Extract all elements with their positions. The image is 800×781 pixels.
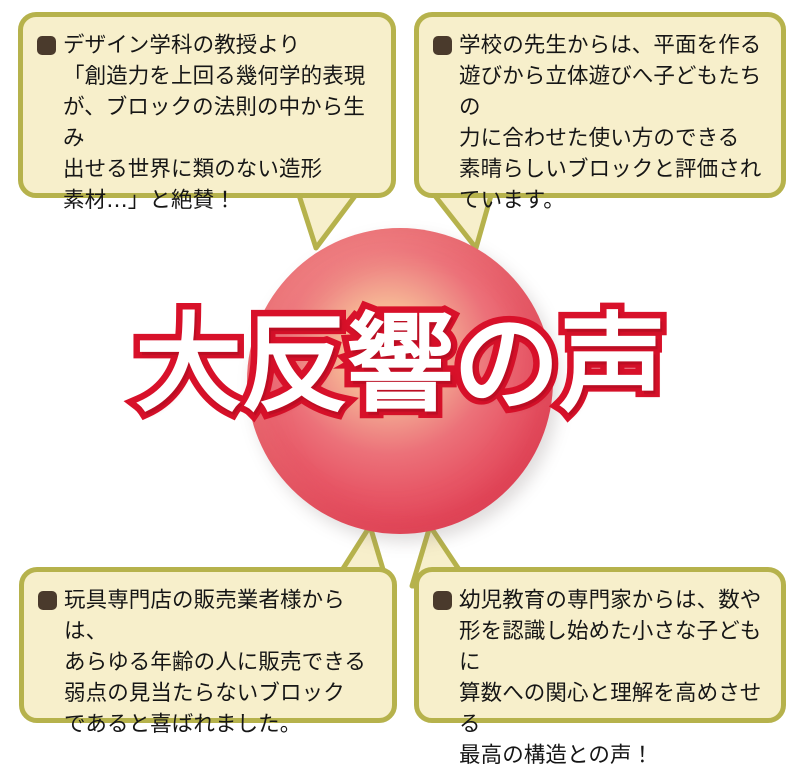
testimonial-text-bottom-left: 玩具専門店の販売業者様からは、 あらゆる年齢の人に販売できる 弱点の見当たらない… xyxy=(64,585,380,740)
square-bullet-icon xyxy=(433,36,452,55)
testimonial-text-bottom-right: 幼児教育の専門家からは、数や 形を認識し始めた小さな子どもに 算数への関心と理解… xyxy=(459,585,769,771)
square-bullet-icon xyxy=(433,591,452,610)
testimonial-bubble-top-left: デザイン学科の教授より 「創造力を上回る幾何学的表現 が、ブロックの法則の中から… xyxy=(18,12,396,198)
testimonial-bubble-bottom-right: 幼児教育の専門家からは、数や 形を認識し始めた小さな子どもに 算数への関心と理解… xyxy=(414,567,786,723)
testimonial-text-top-right: 学校の先生からは、平面を作る 遊びから立体遊びへ子どもたちの 力に合わせた使い方… xyxy=(459,30,769,216)
testimonial-bubble-bottom-left: 玩具専門店の販売業者様からは、 あらゆる年齢の人に販売できる 弱点の見当たらない… xyxy=(19,567,397,723)
square-bullet-icon xyxy=(37,36,56,55)
testimonial-bubble-top-right: 学校の先生からは、平面を作る 遊びから立体遊びへ子どもたちの 力に合わせた使い方… xyxy=(414,12,786,198)
testimonial-text-top-left: デザイン学科の教授より 「創造力を上回る幾何学的表現 が、ブロックの法則の中から… xyxy=(63,30,379,216)
square-bullet-icon xyxy=(38,591,57,610)
page-title: 大反響の声 xyxy=(0,306,800,424)
promo-graphic-canvas: 大反響の声 デザイン学科の教授より 「創造力を上回る幾何学的表現 が、ブロックの… xyxy=(0,0,800,743)
